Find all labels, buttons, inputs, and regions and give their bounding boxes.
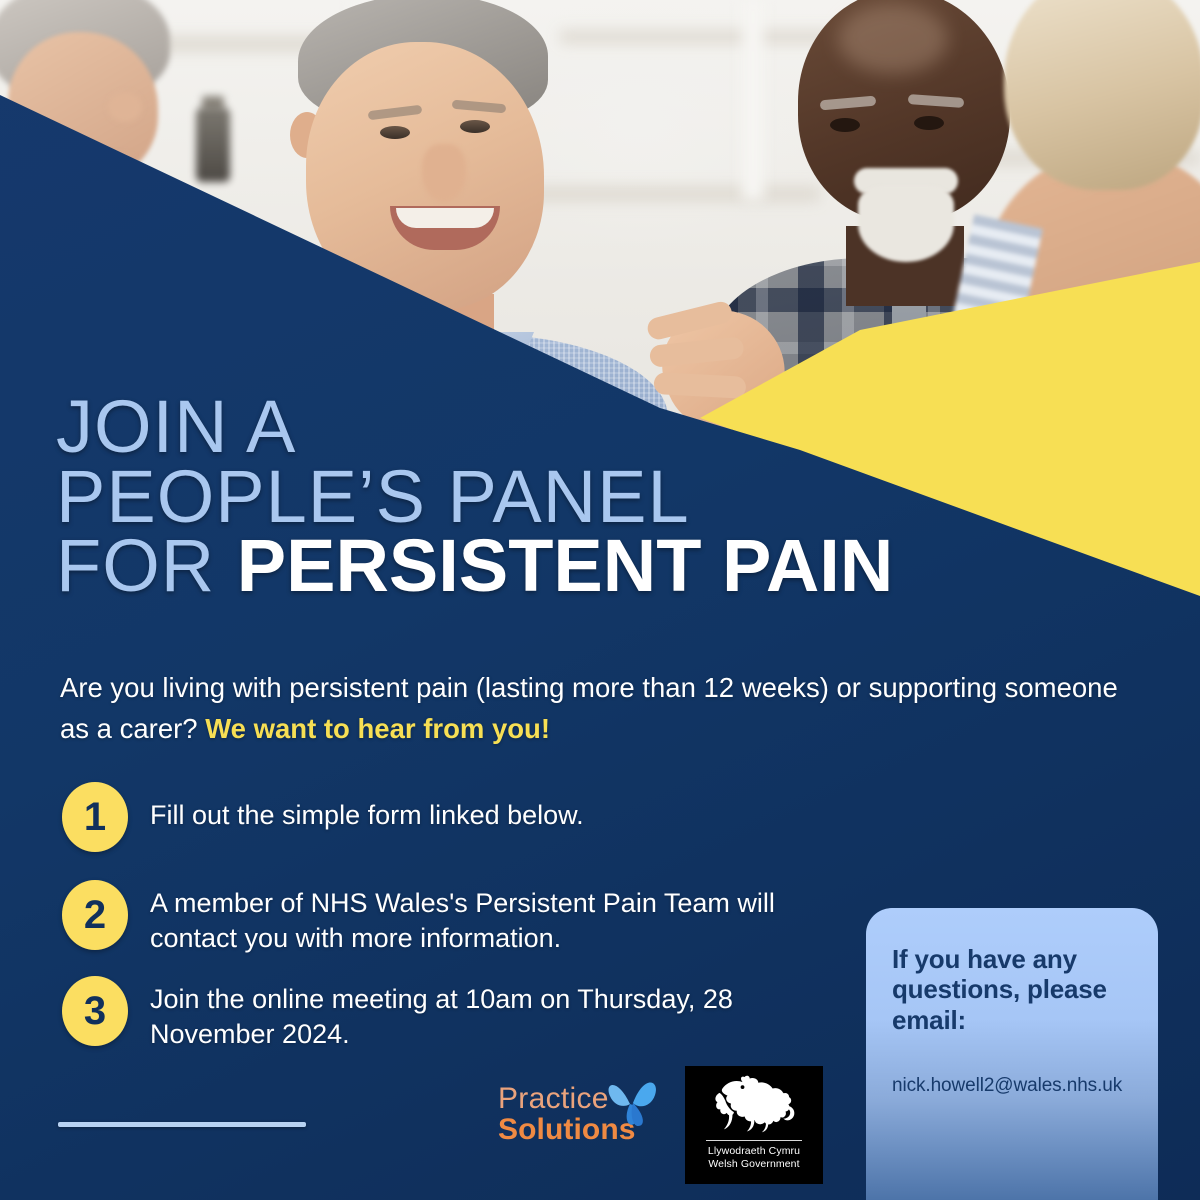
page-title: JOIN A PEOPLE’S PANEL FOR PERSISTENT PAI…	[56, 392, 1056, 601]
divider-rule	[58, 1122, 306, 1127]
contact-panel: If you have any questions, please email:…	[866, 908, 1158, 1200]
headline-line-2: PEOPLE’S PANEL	[56, 462, 1056, 532]
headline-for: FOR	[56, 524, 237, 607]
welsh-logo-welsh-name: Llywodraeth Cymru	[708, 1145, 800, 1158]
step-number-badge: 2	[62, 880, 128, 950]
contact-title: If you have any questions, please email:	[892, 944, 1132, 1035]
subhead: Are you living with persistent pain (las…	[60, 668, 1140, 749]
logo-row: Practice Solutions	[498, 1066, 828, 1186]
step-number-badge: 3	[62, 976, 128, 1046]
subhead-emphasis: We want to hear from you!	[205, 713, 550, 744]
contact-email[interactable]: nick.howell2@wales.nhs.uk	[892, 1075, 1132, 1097]
list-item: 3 Join the online meeting at 10am on Thu…	[62, 970, 852, 1052]
list-item: 1 Fill out the simple form linked below.	[62, 782, 852, 852]
welsh-logo-english-name: Welsh Government	[708, 1158, 799, 1171]
list-item: 2 A member of NHS Wales's Persistent Pai…	[62, 874, 852, 956]
welsh-dragon-icon	[711, 1074, 797, 1136]
welsh-government-logo: Llywodraeth Cymru Welsh Government	[685, 1066, 823, 1184]
step-text: Fill out the simple form linked below.	[150, 782, 584, 833]
headline-line-3: FOR PERSISTENT PAIN	[56, 531, 1056, 601]
practice-solutions-logo: Practice Solutions	[498, 1084, 668, 1145]
jar-decor	[196, 108, 230, 182]
step-number-badge: 1	[62, 782, 128, 852]
steps-list: 1 Fill out the simple form linked below.…	[62, 782, 852, 1074]
step-text: Join the online meeting at 10am on Thurs…	[150, 970, 852, 1052]
welsh-logo-divider	[706, 1140, 802, 1141]
headline-line-1: JOIN A	[56, 392, 1056, 462]
butterfly-icon	[600, 1070, 664, 1134]
headline-emphasis: PERSISTENT PAIN	[237, 524, 894, 607]
poster: JOIN A PEOPLE’S PANEL FOR PERSISTENT PAI…	[0, 0, 1200, 1200]
step-text: A member of NHS Wales's Persistent Pain …	[150, 874, 852, 956]
